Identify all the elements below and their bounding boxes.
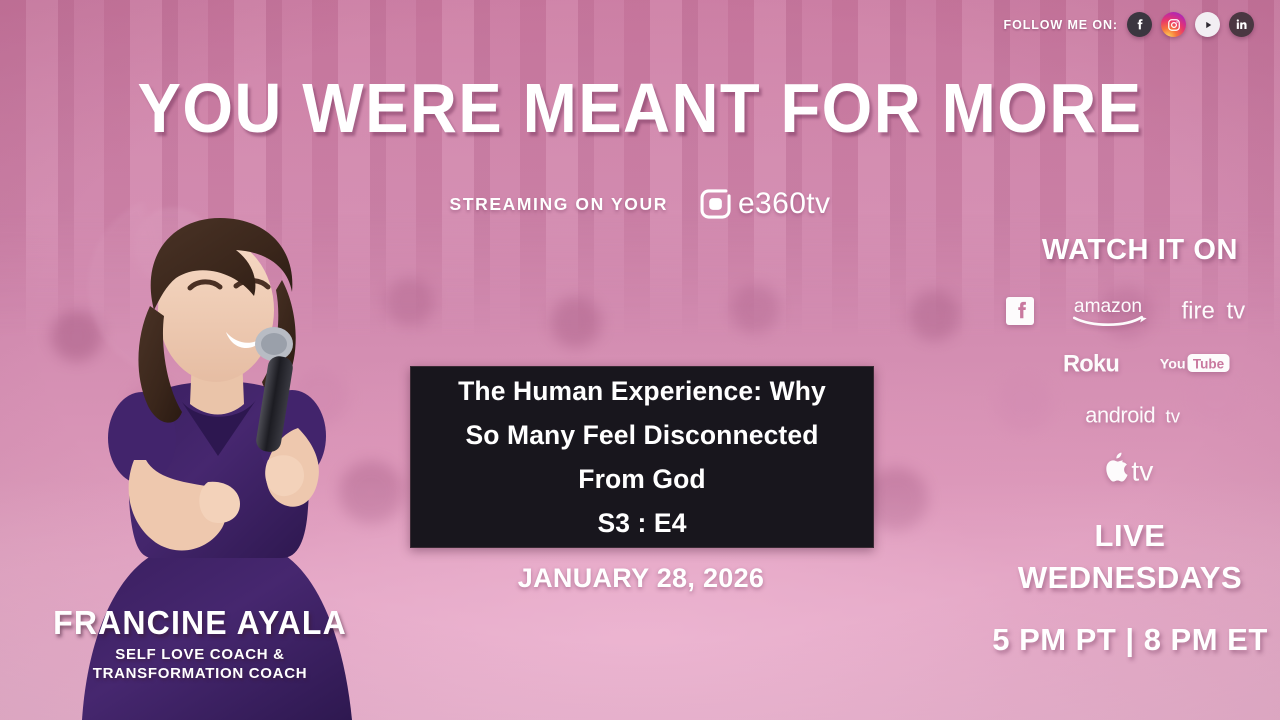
instagram-icon[interactable] — [1161, 12, 1186, 37]
facebook-platform-logo[interactable] — [1004, 290, 1036, 332]
svg-text:Roku: Roku — [1063, 351, 1119, 377]
youtube-platform-logo[interactable]: You Tube — [1159, 342, 1231, 384]
episode-title-card: The Human Experience: Why So Many Feel D… — [410, 366, 874, 548]
episode-title-line-3: From God — [578, 457, 705, 501]
promo-graphic: FOLLOW ME ON: YOU WERE MEANT FOR MORE ST… — [0, 0, 1280, 720]
svg-text:Tube: Tube — [1193, 356, 1225, 371]
e360tv-wordmark: e360tv — [738, 187, 830, 221]
follow-me-bar: FOLLOW ME ON: — [1004, 12, 1254, 37]
follow-me-label: FOLLOW ME ON: — [1004, 18, 1118, 32]
live-schedule: LIVE WEDNESDAYS — [980, 515, 1280, 599]
host-name: FRANCINE AYALA — [6, 604, 394, 642]
svg-text:fire: fire — [1182, 298, 1215, 325]
episode-title-line-1: The Human Experience: Why — [458, 369, 826, 413]
linkedin-icon[interactable] — [1229, 12, 1254, 37]
live-day: WEDNESDAYS — [980, 557, 1280, 599]
e360tv-mark-icon — [698, 186, 734, 222]
svg-text:tv: tv — [1227, 298, 1246, 325]
streaming-on-row: STREAMING ON YOUR e360tv — [0, 186, 1280, 222]
androidtv-platform-logo[interactable]: android tv — [1084, 394, 1196, 436]
appletv-platform-logo[interactable]: tv — [1000, 446, 1280, 488]
facebook-icon[interactable] — [1127, 12, 1152, 37]
watch-it-on-heading: WATCH IT ON — [1000, 234, 1280, 267]
youtube-icon[interactable] — [1195, 12, 1220, 37]
svg-text:tv: tv — [1131, 455, 1153, 486]
svg-text:android: android — [1085, 403, 1155, 428]
platform-logo-grid: amazon fire tv Roku You Tube — [1000, 290, 1280, 488]
svg-text:You: You — [1160, 356, 1186, 372]
svg-text:amazon: amazon — [1074, 296, 1142, 317]
host-role-line-2: TRANSFORMATION COACH — [0, 664, 400, 683]
live-label: LIVE — [980, 515, 1280, 557]
air-date: JANUARY 28, 2026 — [410, 563, 872, 594]
firetv-platform-logo[interactable]: fire tv — [1180, 290, 1276, 332]
svg-text:tv: tv — [1166, 406, 1181, 427]
episode-title-line-2: So Many Feel Disconnected — [466, 413, 819, 457]
page-title: YOU WERE MEANT FOR MORE — [45, 73, 1235, 143]
live-times: 5 PM PT | 8 PM ET — [980, 622, 1280, 658]
episode-number: S3 : E4 — [597, 501, 686, 545]
host-role: SELF LOVE COACH & TRANSFORMATION COACH — [0, 645, 400, 683]
roku-platform-logo[interactable]: Roku — [1049, 342, 1133, 384]
amazon-platform-logo[interactable]: amazon — [1062, 290, 1154, 332]
host-role-line-1: SELF LOVE COACH & — [0, 645, 400, 664]
e360tv-logo: e360tv — [698, 186, 830, 222]
streaming-label: STREAMING ON YOUR — [450, 194, 668, 215]
